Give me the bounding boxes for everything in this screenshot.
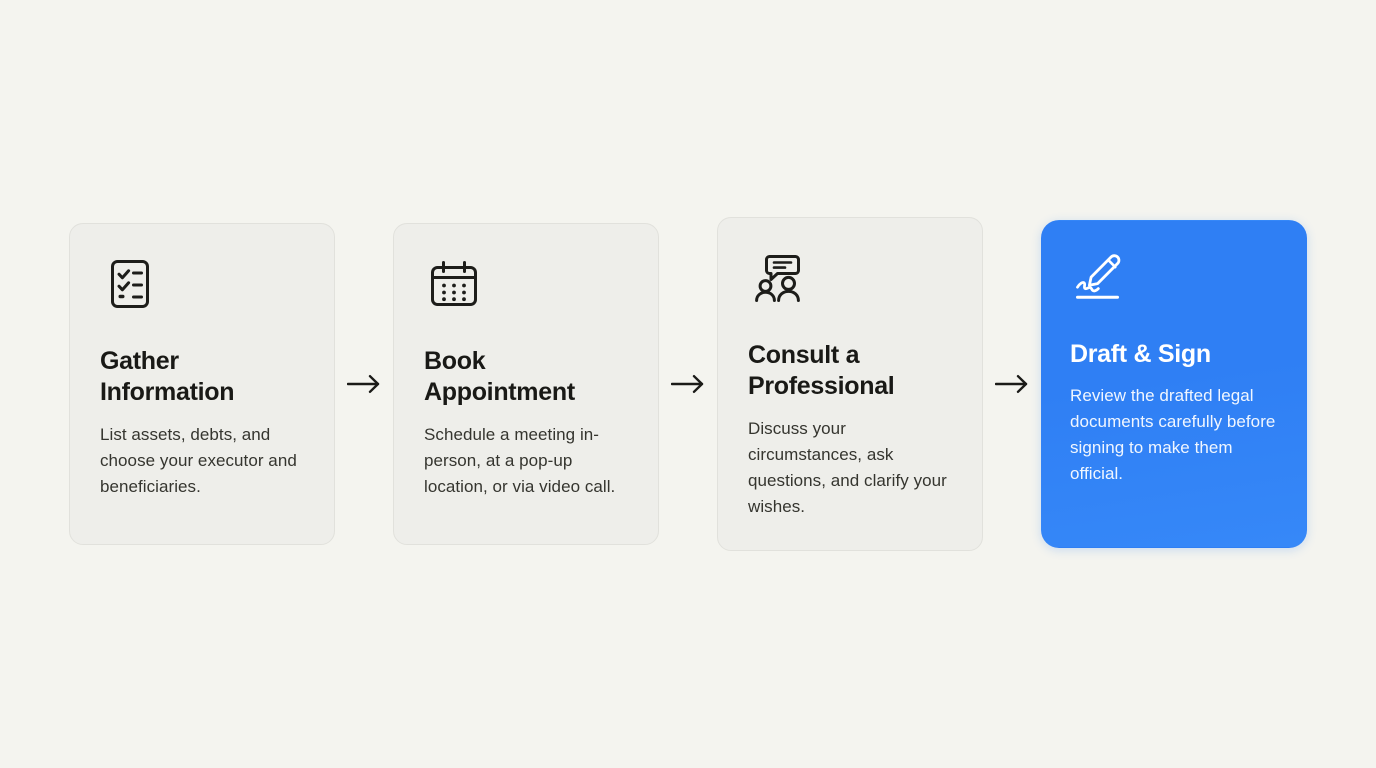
- step-title: Gather Information: [100, 346, 304, 408]
- step-title: Draft & Sign: [1070, 339, 1211, 370]
- steps-row: Gather Information List assets, debts, a…: [69, 217, 1307, 551]
- calendar-icon: [426, 256, 482, 312]
- step-description: Discuss your circumstances, ask question…: [748, 416, 952, 520]
- step-card-consult-a-professional[interactable]: Consult a Professional Discuss your circ…: [717, 217, 983, 551]
- people-speech-bubble-icon: [750, 250, 806, 306]
- step-title: Consult a Professional: [748, 340, 952, 402]
- step-card-draft-and-sign[interactable]: Draft & Sign Review the drafted legal do…: [1041, 220, 1307, 548]
- step-card-book-appointment[interactable]: Book Appointment Schedule a meeting in-p…: [393, 223, 659, 545]
- signature-pen-icon: [1072, 251, 1128, 307]
- flow-arrow-1: [335, 374, 393, 394]
- flow-arrow-3: [983, 374, 1041, 394]
- step-card-gather-information[interactable]: Gather Information List assets, debts, a…: [69, 223, 335, 545]
- step-title: Book Appointment: [424, 346, 628, 408]
- flow-arrow-2: [659, 374, 717, 394]
- step-description: List assets, debts, and choose your exec…: [100, 422, 304, 500]
- step-description: Schedule a meeting in-person, at a pop-u…: [424, 422, 628, 500]
- step-description: Review the drafted legal documents caref…: [1070, 383, 1278, 487]
- process-flow-diagram: Gather Information List assets, debts, a…: [0, 0, 1376, 768]
- clipboard-checklist-icon: [102, 256, 158, 312]
